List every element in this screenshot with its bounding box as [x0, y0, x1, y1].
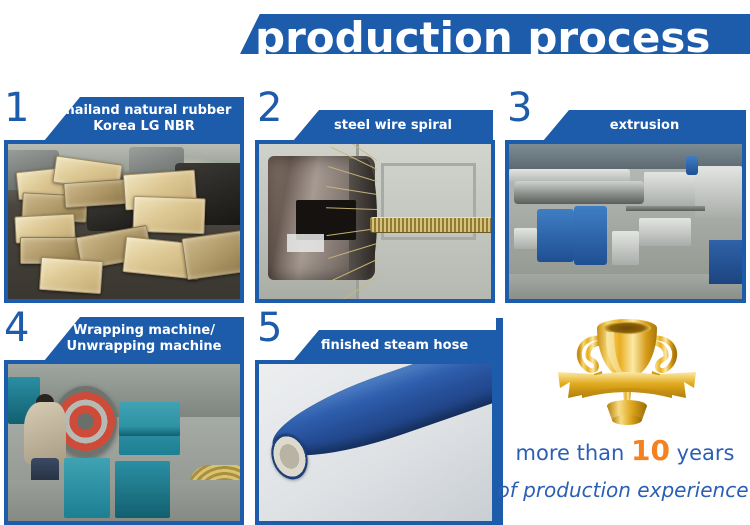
experience-tagline-line-2: of production experience	[496, 476, 750, 504]
step-label-1-line-2: Korea LG NBR	[93, 119, 195, 135]
production-process-infographic: production process 1 Thailand natural ru…	[0, 0, 750, 525]
page-title: production process	[255, 9, 745, 67]
step-label-4: Wrapping machine/ Unwrapping machine	[44, 317, 244, 361]
step-panel-1: 1 Thailand natural rubber Korea LG NBR	[0, 88, 248, 303]
tagline-prefix: more than	[516, 441, 625, 465]
step-panel-5: 5 finished steam hose	[253, 308, 496, 525]
step-label-2: steel wire spiral	[293, 110, 493, 141]
step-photo-1	[4, 140, 244, 303]
tagline-number: 10	[631, 434, 670, 467]
step-photo-2	[255, 140, 495, 303]
step-number-4: 4	[4, 308, 29, 348]
step-label-3: extrusion	[543, 110, 746, 141]
step-number-3: 3	[507, 88, 532, 128]
step-label-3-line-1: extrusion	[610, 118, 679, 134]
step-photo-5	[255, 360, 496, 525]
step-photo-4	[4, 360, 244, 525]
step-panel-2: 2 steel wire spiral	[253, 88, 496, 303]
step-label-4-line-2: Unwrapping machine	[67, 339, 222, 355]
step-panel-4: 4 Wrapping machine/ Unwrapping machine	[0, 308, 248, 525]
step-label-1-line-1: Thailand natural rubber	[57, 103, 232, 119]
step-label-5-line-1: finished steam hose	[321, 338, 468, 354]
step-label-2-line-1: steel wire spiral	[334, 118, 452, 134]
experience-tagline-line-1: more than 10 years	[500, 436, 750, 466]
step-number-2: 2	[257, 88, 282, 128]
step-label-1: Thailand natural rubber Korea LG NBR	[44, 97, 244, 141]
trophy-icon	[552, 312, 702, 434]
step-label-4-line-1: Wrapping machine/	[73, 323, 215, 339]
step-panel-3: 3 extrusion	[503, 88, 746, 303]
step-number-1: 1	[4, 88, 29, 128]
step-photo-3	[505, 140, 746, 303]
tagline-suffix: years	[677, 441, 735, 465]
step-label-5: finished steam hose	[293, 330, 496, 361]
step-number-5: 5	[257, 308, 282, 348]
